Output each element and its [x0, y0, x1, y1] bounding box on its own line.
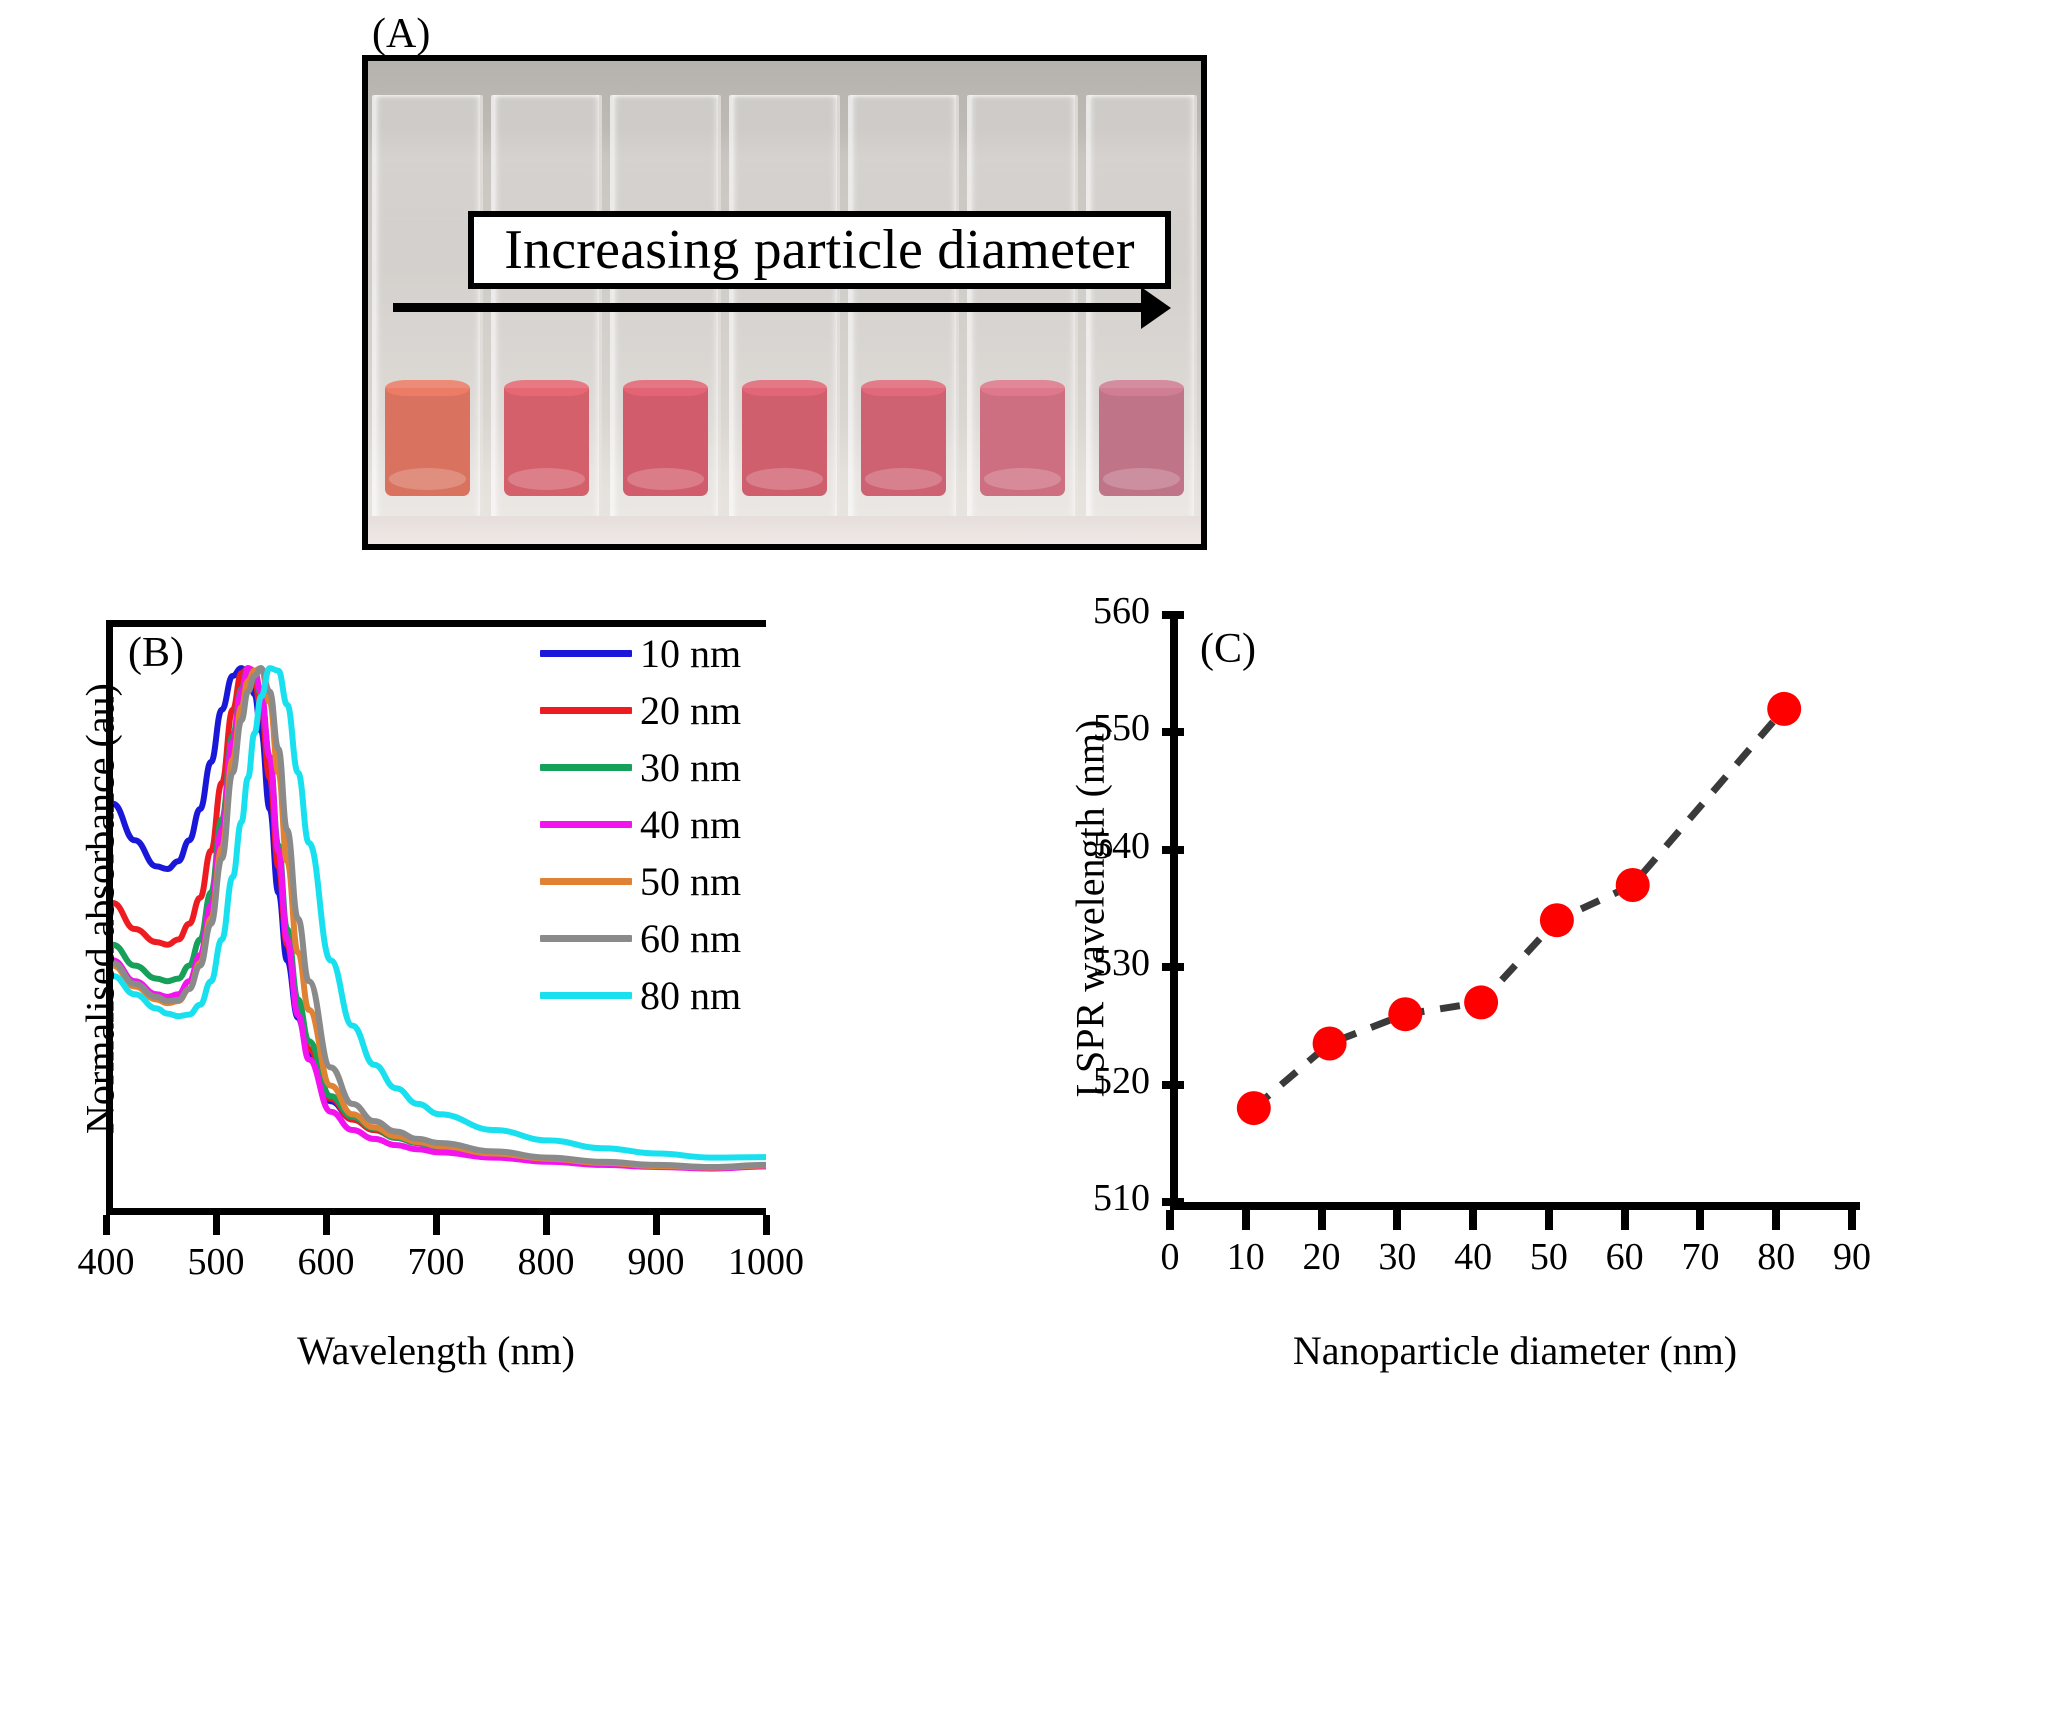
panel-b-label: (B) [128, 629, 184, 677]
legend-swatch [540, 821, 632, 828]
cuvette-liquid [385, 388, 470, 496]
y-tick-label: 540 [1010, 824, 1150, 868]
x-tick [1469, 1210, 1477, 1230]
cuvette-liquid [504, 388, 589, 496]
data-point[interactable] [1313, 1027, 1347, 1061]
y-tick [1162, 611, 1184, 619]
x-tick-label: 1000 [706, 1240, 826, 1284]
y-tick-label: 510 [1010, 1176, 1150, 1220]
data-point[interactable] [1464, 985, 1498, 1019]
y-tick-label: 560 [1010, 589, 1150, 633]
legend-swatch [540, 992, 632, 999]
y-tick-label: 530 [1010, 941, 1150, 985]
y-tick-label: 550 [1010, 706, 1150, 750]
legend-item-30-nm[interactable]: 30 nm [540, 739, 772, 796]
x-tick [213, 1215, 220, 1235]
y-tick [1162, 846, 1184, 854]
panel-a: (A) Increasing particle diameter [0, 0, 2048, 580]
lspr-scatter-svg [1178, 615, 1860, 1202]
legend-item-50-nm[interactable]: 50 nm [540, 853, 772, 910]
legend-label: 10 nm [640, 630, 741, 677]
x-tick-label: 900 [596, 1240, 716, 1284]
legend-label: 30 nm [640, 744, 741, 791]
panel-b-y-axis-title: Normalised absorbance (au) [77, 649, 124, 1169]
x-tick [103, 1215, 110, 1235]
legend-swatch [540, 764, 632, 771]
x-tick [1242, 1210, 1250, 1230]
data-point[interactable] [1540, 903, 1574, 937]
legend-item-40-nm[interactable]: 40 nm [540, 796, 772, 853]
x-tick [1848, 1210, 1856, 1230]
legend-item-80-nm[interactable]: 80 nm [540, 967, 772, 1024]
x-tick-label: 500 [156, 1240, 276, 1284]
data-point[interactable] [1237, 1091, 1271, 1125]
panel-b: (B) Normalised absorbance (au) Wavelengt… [0, 585, 1000, 1725]
x-tick [1696, 1210, 1704, 1230]
x-tick-label: 600 [266, 1240, 386, 1284]
x-tick [1621, 1210, 1629, 1230]
panel-c-label: (C) [1200, 625, 1256, 673]
cuvette-photograph: Increasing particle diameter [362, 55, 1207, 550]
increasing-diameter-annotation: Increasing particle diameter [390, 211, 1171, 331]
legend-label: 40 nm [640, 801, 741, 848]
legend-swatch [540, 650, 632, 657]
annotation-label: Increasing particle diameter [504, 218, 1135, 282]
x-tick [653, 1215, 660, 1235]
cuvette-liquid [1099, 388, 1184, 496]
y-tick [1162, 728, 1184, 736]
x-tick [1318, 1210, 1326, 1230]
right-arrow-icon [393, 303, 1149, 312]
panel-b-legend: 10 nm20 nm30 nm40 nm50 nm60 nm80 nm [540, 625, 772, 1025]
panel-a-label: (A) [372, 10, 430, 58]
cuvette-liquid [980, 388, 1065, 496]
legend-item-60-nm[interactable]: 60 nm [540, 910, 772, 967]
data-point[interactable] [1388, 997, 1422, 1031]
x-tick [1166, 1210, 1174, 1230]
cuvette-liquid [742, 388, 827, 496]
annotation-text-box: Increasing particle diameter [468, 211, 1171, 289]
x-tick-label: 800 [486, 1240, 606, 1284]
y-tick [1162, 1081, 1184, 1089]
data-point[interactable] [1767, 692, 1801, 726]
cuvette-liquid [623, 388, 708, 496]
panel-b-x-axis-title: Wavelength (nm) [106, 1327, 766, 1374]
x-tick [1772, 1210, 1780, 1230]
panel-c-x-axis-title: Nanoparticle diameter (nm) [1170, 1327, 1860, 1374]
x-tick [323, 1215, 330, 1235]
panel-c-axes [1170, 615, 1860, 1210]
legend-label: 50 nm [640, 858, 741, 905]
legend-label: 20 nm [640, 687, 741, 734]
cuvette-liquid [861, 388, 946, 496]
x-tick [1393, 1210, 1401, 1230]
legend-item-10-nm[interactable]: 10 nm [540, 625, 772, 682]
x-tick-label: 90 [1792, 1235, 1912, 1279]
data-point[interactable] [1616, 868, 1650, 902]
y-tick [1162, 963, 1184, 971]
x-tick-label: 400 [46, 1240, 166, 1284]
legend-swatch [540, 707, 632, 714]
y-tick [1162, 1198, 1184, 1206]
legend-item-20-nm[interactable]: 20 nm [540, 682, 772, 739]
y-tick-label: 520 [1010, 1059, 1150, 1103]
x-tick [433, 1215, 440, 1235]
panel-c: (C) LSPR wavelength (nm) Nanoparticle di… [1010, 585, 2048, 1725]
right-arrow-head-icon [1141, 287, 1171, 329]
x-tick [1545, 1210, 1553, 1230]
x-tick [763, 1215, 770, 1235]
bench-surface [368, 516, 1201, 544]
legend-swatch [540, 935, 632, 942]
legend-label: 60 nm [640, 915, 741, 962]
x-tick [543, 1215, 550, 1235]
x-tick-label: 700 [376, 1240, 496, 1284]
legend-swatch [540, 878, 632, 885]
legend-label: 80 nm [640, 972, 741, 1019]
